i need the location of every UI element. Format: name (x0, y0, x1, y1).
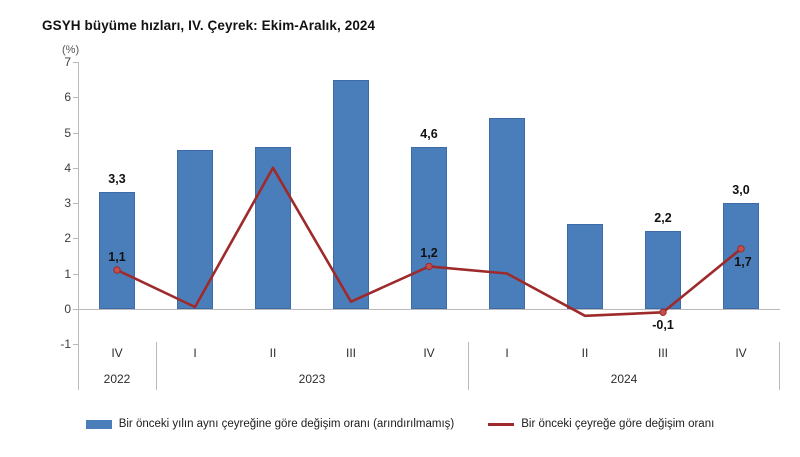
line-value-label: -0,1 (652, 318, 674, 332)
line-value-label: 1,2 (420, 246, 437, 260)
chart-legend: Bir önceki yılın aynı çeyreğine göre değ… (0, 418, 800, 430)
year-group-label: 2024 (611, 372, 638, 386)
y-tick-label: 3 (64, 196, 71, 210)
plot-area: 76543210-1 3,34,62,23,01,11,2-0,11,7 (78, 62, 780, 344)
category-tick-label: II (582, 346, 589, 360)
category-tick-label: IV (111, 346, 122, 360)
line-series (78, 62, 780, 344)
group-separator (156, 342, 157, 390)
legend-item-line: Bir önceki çeyreğe göre değişim oranı (488, 418, 714, 430)
y-tick-label: 5 (64, 126, 71, 140)
category-axis: IVIIIIIIIVIIIIIIIV202220232024 (78, 344, 780, 394)
year-group-label: 2023 (299, 372, 326, 386)
chart-container: GSYH büyüme hızları, IV. Çeyrek: Ekim-Ar… (0, 0, 800, 457)
line-data-point (660, 309, 666, 315)
group-separator (78, 342, 79, 390)
legend-item-bar-label: Bir önceki yılın aynı çeyreğine göre değ… (119, 418, 455, 430)
category-tick-label: III (346, 346, 356, 360)
line-value-label: 1,7 (734, 255, 751, 269)
y-tick-label: 6 (64, 90, 71, 104)
line-data-point (114, 267, 120, 273)
y-tick-label: 7 (64, 55, 71, 69)
y-tick-label: 4 (64, 161, 71, 175)
year-group-label: 2022 (104, 372, 131, 386)
legend-bar-swatch-icon (86, 420, 112, 429)
bar-value-label: 3,3 (108, 172, 125, 186)
chart-title: GSYH büyüme hızları, IV. Çeyrek: Ekim-Ar… (42, 18, 375, 33)
category-tick-label: III (658, 346, 668, 360)
legend-line-swatch-icon (488, 423, 514, 426)
line-data-point (738, 246, 744, 252)
legend-item-line-label: Bir önceki çeyreğe göre değişim oranı (521, 418, 714, 430)
legend-item-bar: Bir önceki yılın aynı çeyreğine göre değ… (86, 418, 455, 430)
y-tick-label: -1 (60, 337, 71, 351)
category-tick-label: IV (735, 346, 746, 360)
group-separator (468, 342, 469, 390)
line-data-point (426, 263, 432, 269)
y-tick-label: 2 (64, 231, 71, 245)
bar-value-label: 2,2 (654, 211, 671, 225)
category-tick-label: II (270, 346, 277, 360)
category-tick-label: IV (423, 346, 434, 360)
group-separator (779, 342, 780, 390)
y-tick-label: 0 (64, 302, 71, 316)
category-tick-label: I (505, 346, 508, 360)
category-tick-label: I (193, 346, 196, 360)
bar-value-label: 4,6 (420, 127, 437, 141)
line-path (117, 168, 741, 316)
bar-value-label: 3,0 (732, 183, 749, 197)
y-tick-label: 1 (64, 267, 71, 281)
line-value-label: 1,1 (108, 250, 125, 264)
